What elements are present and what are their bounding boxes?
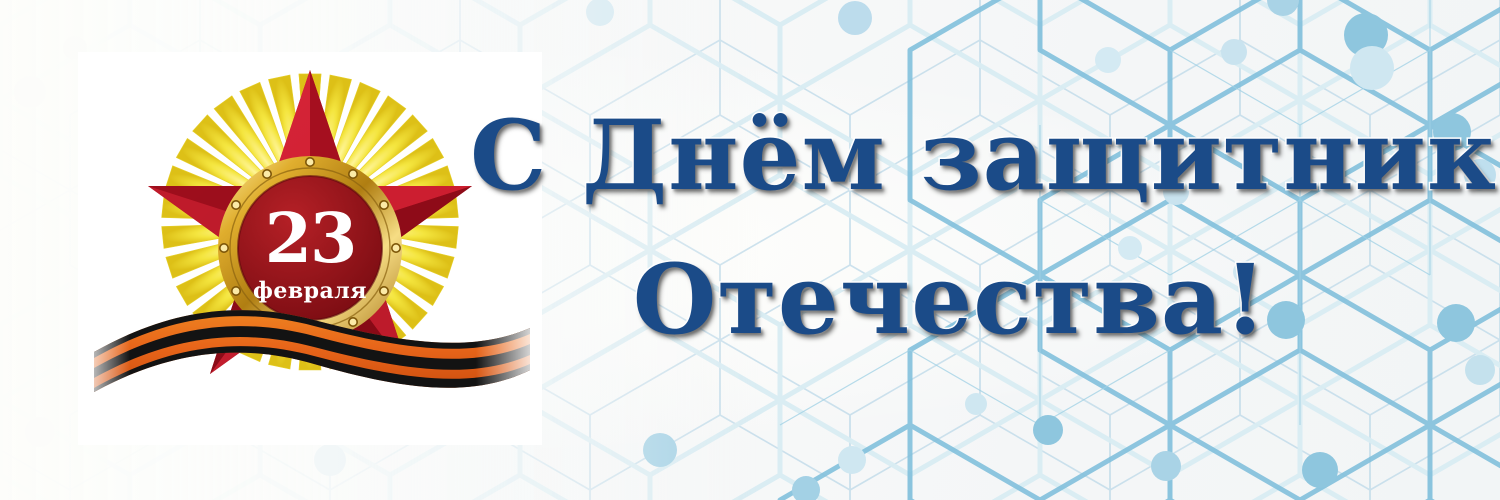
greeting-banner: 23 февраля bbox=[0, 0, 1500, 500]
greeting-line-1: С Днём защитника bbox=[470, 96, 1430, 216]
badge-month-label: февраля bbox=[253, 278, 367, 304]
badge-day-label: 23 bbox=[265, 199, 356, 279]
greeting-text-block: С Днём защитника Отечества! bbox=[470, 96, 1430, 406]
greeting-line-2: Отечества! bbox=[470, 240, 1430, 360]
